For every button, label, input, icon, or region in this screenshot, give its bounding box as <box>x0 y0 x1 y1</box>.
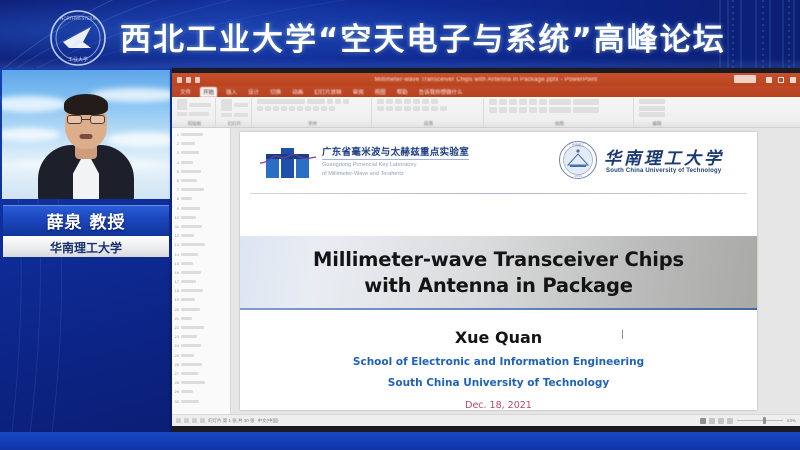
speaker-name: 薛泉 教授 <box>47 208 126 233</box>
desktop-backdrop <box>0 432 800 450</box>
outline-number: 16 <box>174 270 179 275</box>
outline-item[interactable]: 20 <box>174 305 228 314</box>
language-indicator[interactable]: 中文(中国) <box>258 418 279 424</box>
outline-item[interactable]: 16 <box>174 268 228 277</box>
slideshow-view-icon[interactable] <box>727 418 733 424</box>
slide-header-divider <box>250 193 747 194</box>
slide-author-block[interactable]: Xue Quan School of Electronic and Inform… <box>240 328 757 410</box>
zoom-level[interactable]: 63% <box>787 418 796 423</box>
outline-number: 28 <box>174 380 179 385</box>
outline-number: 18 <box>174 288 179 293</box>
outline-item[interactable]: 8 <box>174 194 228 203</box>
outline-number: 19 <box>174 297 179 302</box>
outline-item[interactable]: 12 <box>174 231 228 240</box>
outline-item[interactable]: 24 <box>174 341 228 350</box>
speaker-affiliation: 华南理工大学 <box>50 239 122 256</box>
outline-number: 17 <box>174 279 179 284</box>
outline-item[interactable]: 10 <box>174 213 228 222</box>
outline-item[interactable]: 30 <box>174 396 228 405</box>
slide-author-name: Xue Quan <box>455 328 542 347</box>
lab-name-en-line2: of Millimeter-Wave and Terahertz <box>322 171 469 178</box>
page-title: 西北工业大学“空天电子与系统”高峰论坛 <box>120 14 726 59</box>
outline-item[interactable]: 4 <box>174 158 228 167</box>
outline-number: 15 <box>174 261 179 266</box>
outline-number: 30 <box>174 399 179 404</box>
text-cursor <box>622 330 623 339</box>
millimeter-wave-lab-logo-icon <box>260 144 316 178</box>
scut-university-seal-icon: 华南理工 1934 <box>558 140 598 180</box>
ribbon-group-label: 剪贴板 <box>174 121 215 127</box>
outline-item[interactable]: 18 <box>174 286 228 295</box>
current-slide[interactable]: 广东省毫米波与太赫兹重点实验室 Guangdong Provincial Key… <box>240 132 757 410</box>
speaker-panel: 薛泉 教授 华南理工大学 <box>0 68 172 450</box>
window-controls[interactable] <box>766 77 796 83</box>
outline-item[interactable]: 5 <box>174 167 228 176</box>
speaker-hair <box>64 94 108 115</box>
slide-org-line2: South China University of Technology <box>388 377 609 389</box>
outline-item[interactable]: 29 <box>174 387 228 396</box>
outline-number: 6 <box>174 178 179 183</box>
outline-item[interactable]: 26 <box>174 360 228 369</box>
outline-item[interactable]: 7 <box>174 185 228 194</box>
slide-indicator: 幻灯片 第 1 张,共 30 张 <box>208 418 255 424</box>
outline-item[interactable]: 1 <box>174 130 228 139</box>
outline-number: 21 <box>174 316 179 321</box>
tab-file[interactable]: 文件 <box>178 88 193 97</box>
outline-number: 22 <box>174 325 179 330</box>
outline-number: 3 <box>174 150 179 155</box>
outline-number: 20 <box>174 307 179 312</box>
outline-number: 10 <box>174 215 179 220</box>
ribbon-group-label: 幻灯片 <box>218 121 251 127</box>
speaker-affiliation-bar: 华南理工大学 <box>3 236 169 257</box>
outline-item[interactable]: 25 <box>174 351 228 360</box>
university-name-en: South China University of Technology <box>606 168 721 174</box>
speaker-name-bar: 薛泉 教授 <box>3 205 169 236</box>
outline-number: 7 <box>174 187 179 192</box>
ribbon-group-editing[interactable]: 编辑 <box>636 98 678 127</box>
speaker-collar-right <box>90 157 103 181</box>
tab-view[interactable]: 视图 <box>373 88 388 97</box>
outline-item[interactable]: 9 <box>174 204 228 213</box>
zoom-slider-handle[interactable] <box>763 417 766 424</box>
outline-item[interactable]: 23 <box>174 332 228 341</box>
slide-title-band[interactable]: Millimeter-wave Transceiver Chips with A… <box>240 236 757 308</box>
ribbon[interactable]: 剪贴板 幻灯片 字体 <box>172 97 800 128</box>
slide-logo-row: 广东省毫米波与太赫兹重点实验室 Guangdong Provincial Key… <box>240 132 757 194</box>
lab-name-en-line1: Guangdong Provincial Key Laboratory <box>322 162 469 169</box>
outline-item[interactable]: 15 <box>174 259 228 268</box>
tab-animations[interactable]: 动画 <box>290 88 305 97</box>
svg-text:华南理工: 华南理工 <box>572 142 584 147</box>
powerpoint-window[interactable]: Millimeter-wave Transceiver Chips with A… <box>172 68 800 432</box>
outline-number: 25 <box>174 353 179 358</box>
powerpoint-status-bar[interactable]: 幻灯片 第 1 张,共 30 张 中文(中国) 63% <box>172 414 800 426</box>
outline-number: 29 <box>174 389 179 394</box>
ribbon-group-label: 字体 <box>254 121 371 127</box>
outline-number: 1 <box>174 132 179 137</box>
outline-number: 8 <box>174 196 179 201</box>
tab-home[interactable]: 开始 <box>200 87 217 97</box>
banner-bottom-sheen <box>0 58 800 68</box>
normal-view-icon[interactable] <box>700 418 706 424</box>
ribbon-group-drawing[interactable]: 绘图 <box>486 98 634 127</box>
outline-item[interactable]: 22 <box>174 323 228 332</box>
speaker-collar-left <box>69 157 82 181</box>
ribbon-group-clipboard[interactable]: 剪贴板 <box>174 98 216 127</box>
svg-text:NORTHWESTERN: NORTHWESTERN <box>60 16 95 21</box>
slide-title-line1: Millimeter-wave Transceiver Chips <box>313 248 684 271</box>
outline-number: 11 <box>174 224 179 229</box>
ribbon-tab-bar[interactable]: 文件 开始 插入 设计 切换 动画 幻灯片放映 审阅 视图 帮助 告诉我你想做什… <box>172 86 800 97</box>
close-icon[interactable] <box>790 77 796 83</box>
ribbon-group-label: 编辑 <box>636 121 678 127</box>
screen-capture: 工业大学 NORTHWESTERN 西北工业大学“空天电子与系统”高峰论坛 <box>0 0 800 450</box>
outline-item[interactable]: 27 <box>174 369 228 378</box>
outline-number: 9 <box>174 206 179 211</box>
ribbon-group-font[interactable]: 字体 <box>254 98 372 127</box>
outline-item[interactable]: 28 <box>174 378 228 387</box>
outline-number: 13 <box>174 242 179 247</box>
slide-title-line2: with Antenna in Package <box>364 274 632 297</box>
outline-number: 24 <box>174 343 179 348</box>
outline-number: 23 <box>174 334 179 339</box>
tell-me-search-box[interactable]: 告诉我你想做什么 <box>417 88 465 97</box>
outline-number: 14 <box>174 252 179 257</box>
slide-date: Dec. 18, 2021 <box>465 400 532 410</box>
minimize-icon[interactable] <box>766 77 772 83</box>
tab-transitions[interactable]: 切换 <box>268 88 283 97</box>
tab-insert[interactable]: 插入 <box>224 88 239 97</box>
tab-review[interactable]: 审阅 <box>351 88 366 97</box>
outline-item[interactable]: 17 <box>174 277 228 286</box>
slide-org-line1: School of Electronic and Information Eng… <box>353 356 644 368</box>
outline-item[interactable]: 6 <box>174 176 228 185</box>
speaker-glasses-icon <box>67 115 105 125</box>
reading-view-icon[interactable] <box>718 418 724 424</box>
slide-canvas[interactable]: 广东省毫米波与太赫兹重点实验室 Guangdong Provincial Key… <box>231 128 800 414</box>
outline-number: 27 <box>174 371 179 376</box>
status-left-group[interactable]: 幻灯片 第 1 张,共 30 张 中文(中国) <box>176 418 279 424</box>
university-name-cn: 华南理工大学 <box>604 144 724 169</box>
maximize-icon[interactable] <box>778 77 784 83</box>
sign-in-button[interactable] <box>734 75 756 83</box>
ribbon-group-paragraph[interactable]: 段落 <box>374 98 484 127</box>
outline-number: 4 <box>174 160 179 165</box>
powerpoint-title-bar[interactable]: Millimeter-wave Transceiver Chips with A… <box>172 73 800 86</box>
tab-help[interactable]: 帮助 <box>395 88 410 97</box>
ribbon-group-slides[interactable]: 幻灯片 <box>218 98 252 127</box>
outline-item[interactable]: 19 <box>174 295 228 304</box>
outline-item[interactable]: 11 <box>174 222 228 231</box>
slide-sorter-view-icon[interactable] <box>709 418 715 424</box>
ribbon-group-label: 段落 <box>374 121 483 127</box>
slide-outline-pane[interactable]: 1 2 3 4 5 6 7 8 9 10 11 12 13 14 15 16 1… <box>172 128 231 414</box>
lab-name-cn: 广东省毫米波与太赫兹重点实验室 <box>322 144 469 160</box>
outline-number: 2 <box>174 141 179 146</box>
speaker-webcam-feed <box>2 70 170 199</box>
view-switcher[interactable] <box>700 418 733 424</box>
ribbon-group-label: 绘图 <box>486 121 633 127</box>
outline-item[interactable]: 2 <box>174 139 228 148</box>
zoom-slider[interactable] <box>737 420 783 421</box>
outline-item[interactable]: 21 <box>174 314 228 323</box>
speaker-mouth <box>80 134 93 139</box>
tab-slideshow[interactable]: 幻灯片放映 <box>312 88 344 97</box>
svg-text:1934: 1934 <box>574 174 582 178</box>
status-right-group[interactable]: 63% <box>700 418 796 424</box>
outline-item[interactable]: 3 <box>174 148 228 157</box>
outline-number: 26 <box>174 362 179 367</box>
document-title: Millimeter-wave Transceiver Chips with A… <box>172 77 800 83</box>
forum-header-banner: 工业大学 NORTHWESTERN 西北工业大学“空天电子与系统”高峰论坛 <box>0 0 800 68</box>
outline-number: 12 <box>174 233 179 238</box>
tab-design[interactable]: 设计 <box>246 88 261 97</box>
outline-number: 5 <box>174 169 179 174</box>
outline-item[interactable]: 14 <box>174 249 228 258</box>
outline-item[interactable]: 13 <box>174 240 228 249</box>
lab-name-block: 广东省毫米波与太赫兹重点实验室 Guangdong Provincial Key… <box>322 144 469 178</box>
slide-title-underline <box>240 308 757 310</box>
